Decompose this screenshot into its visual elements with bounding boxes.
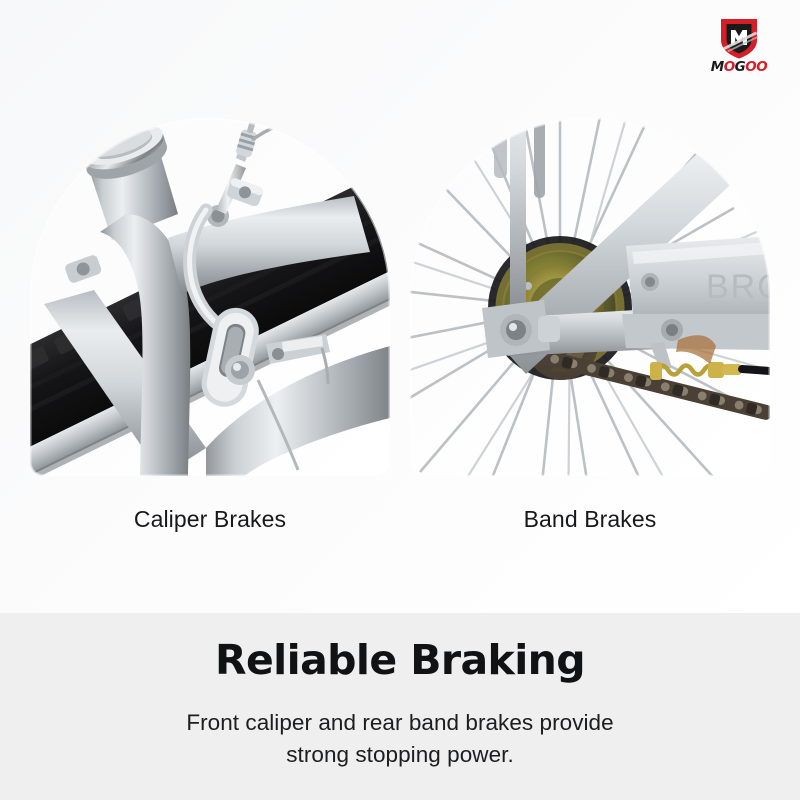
subtext-line-2: strong stopping power. <box>0 739 800 771</box>
photo-caliper-brakes <box>30 118 390 476</box>
wordmark-letter-3: O <box>745 60 756 75</box>
wordmark-letter-2: G <box>735 60 746 75</box>
photo-band-brakes: BRO <box>410 118 770 476</box>
subtext-line-1: Front caliper and rear band brakes provi… <box>0 707 800 739</box>
wordmark-letter-0: M <box>711 60 724 75</box>
feature-card: MOGOO <box>0 0 800 800</box>
caption-caliper-brakes: Caliper Brakes <box>30 506 390 533</box>
mogoo-wordmark: MOGOO <box>700 60 778 75</box>
headline: Reliable Braking <box>0 640 800 681</box>
shield-m-icon <box>717 16 761 60</box>
wordmark-letter-1: O <box>724 60 735 75</box>
wordmark-letter-4: O <box>756 60 767 75</box>
bottom-panel: Reliable Braking Front caliper and rear … <box>0 613 800 800</box>
chainguard-label: BRO <box>706 268 770 306</box>
top-panel: MOGOO <box>0 0 800 613</box>
subtext: Front caliper and rear band brakes provi… <box>0 707 800 771</box>
mogoo-logo: MOGOO <box>700 16 778 78</box>
caption-band-brakes: Band Brakes <box>410 506 770 533</box>
